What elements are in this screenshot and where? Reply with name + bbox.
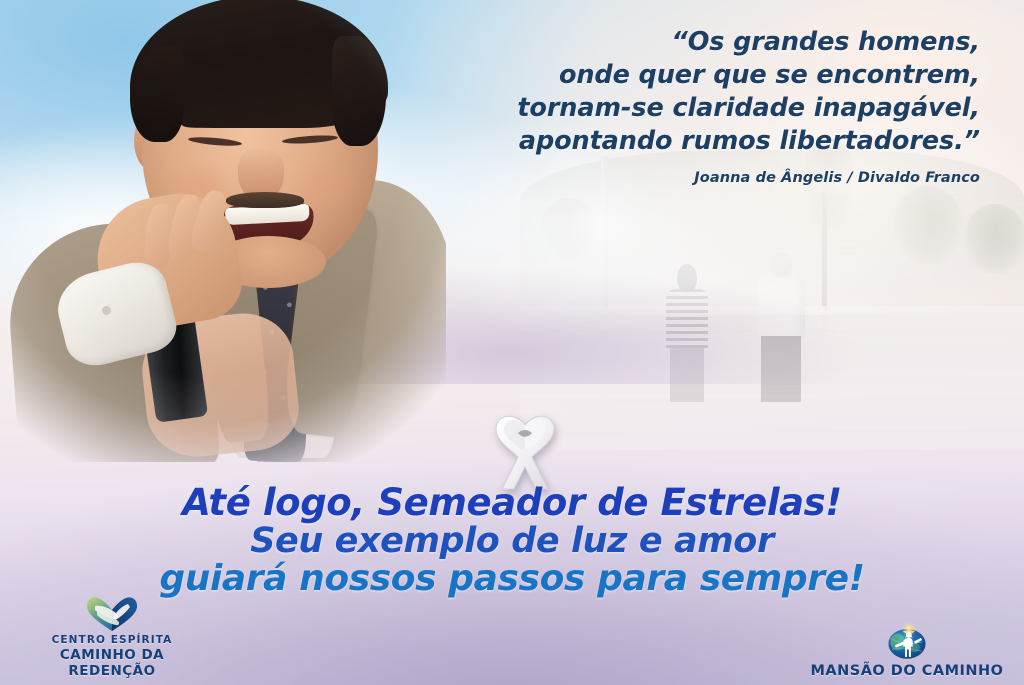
- logo-right-line-2: MANSÃO DO CAMINHO: [810, 663, 1003, 679]
- hands-heart-icon: [84, 594, 140, 634]
- logo-left-line-2: CAMINHO DA REDENÇÃO: [18, 647, 206, 679]
- portrait-divaldo-franco: [0, 0, 446, 462]
- logo-mansao-do-caminho: MANSÃO DO CAMINHO: [802, 622, 1012, 679]
- mourning-ribbon-icon: [484, 405, 566, 491]
- quote-line-3: tornam-se claridade inapagável,: [420, 92, 980, 125]
- quote-block: “Os grandes homens, onde quer que se enc…: [420, 26, 980, 186]
- logo-left-line-1: CENTRO ESPÍRITA: [18, 634, 206, 646]
- logo-left-text: CENTRO ESPÍRITA CAMINHO DA REDENÇÃO: [18, 634, 206, 679]
- quote-line-4: apontando rumos libertadores.”: [420, 125, 980, 158]
- headline-line-3: guiará nossos passos para sempre!: [0, 560, 1024, 598]
- logo-right-text: MANSÃO DO CAMINHO: [810, 662, 1003, 679]
- headline-line-2: Seu exemplo de luz e amor: [0, 522, 1024, 560]
- quote-attribution: Joanna de Ângelis / Divaldo Franco: [420, 170, 980, 186]
- quote-line-1: “Os grandes homens,: [420, 26, 980, 59]
- headline-block: Até logo, Semeador de Estrelas! Seu exem…: [0, 484, 1024, 598]
- headline-line-1: Até logo, Semeador de Estrelas!: [0, 484, 1024, 522]
- globe-figure-icon: [881, 622, 933, 662]
- memorial-poster: “Os grandes homens, onde quer que se enc…: [0, 0, 1024, 685]
- logo-centro-espirita-caminho-da-redencao: CENTRO ESPÍRITA CAMINHO DA REDENÇÃO: [18, 594, 206, 679]
- quote-line-2: onde quer que se encontrem,: [420, 59, 980, 92]
